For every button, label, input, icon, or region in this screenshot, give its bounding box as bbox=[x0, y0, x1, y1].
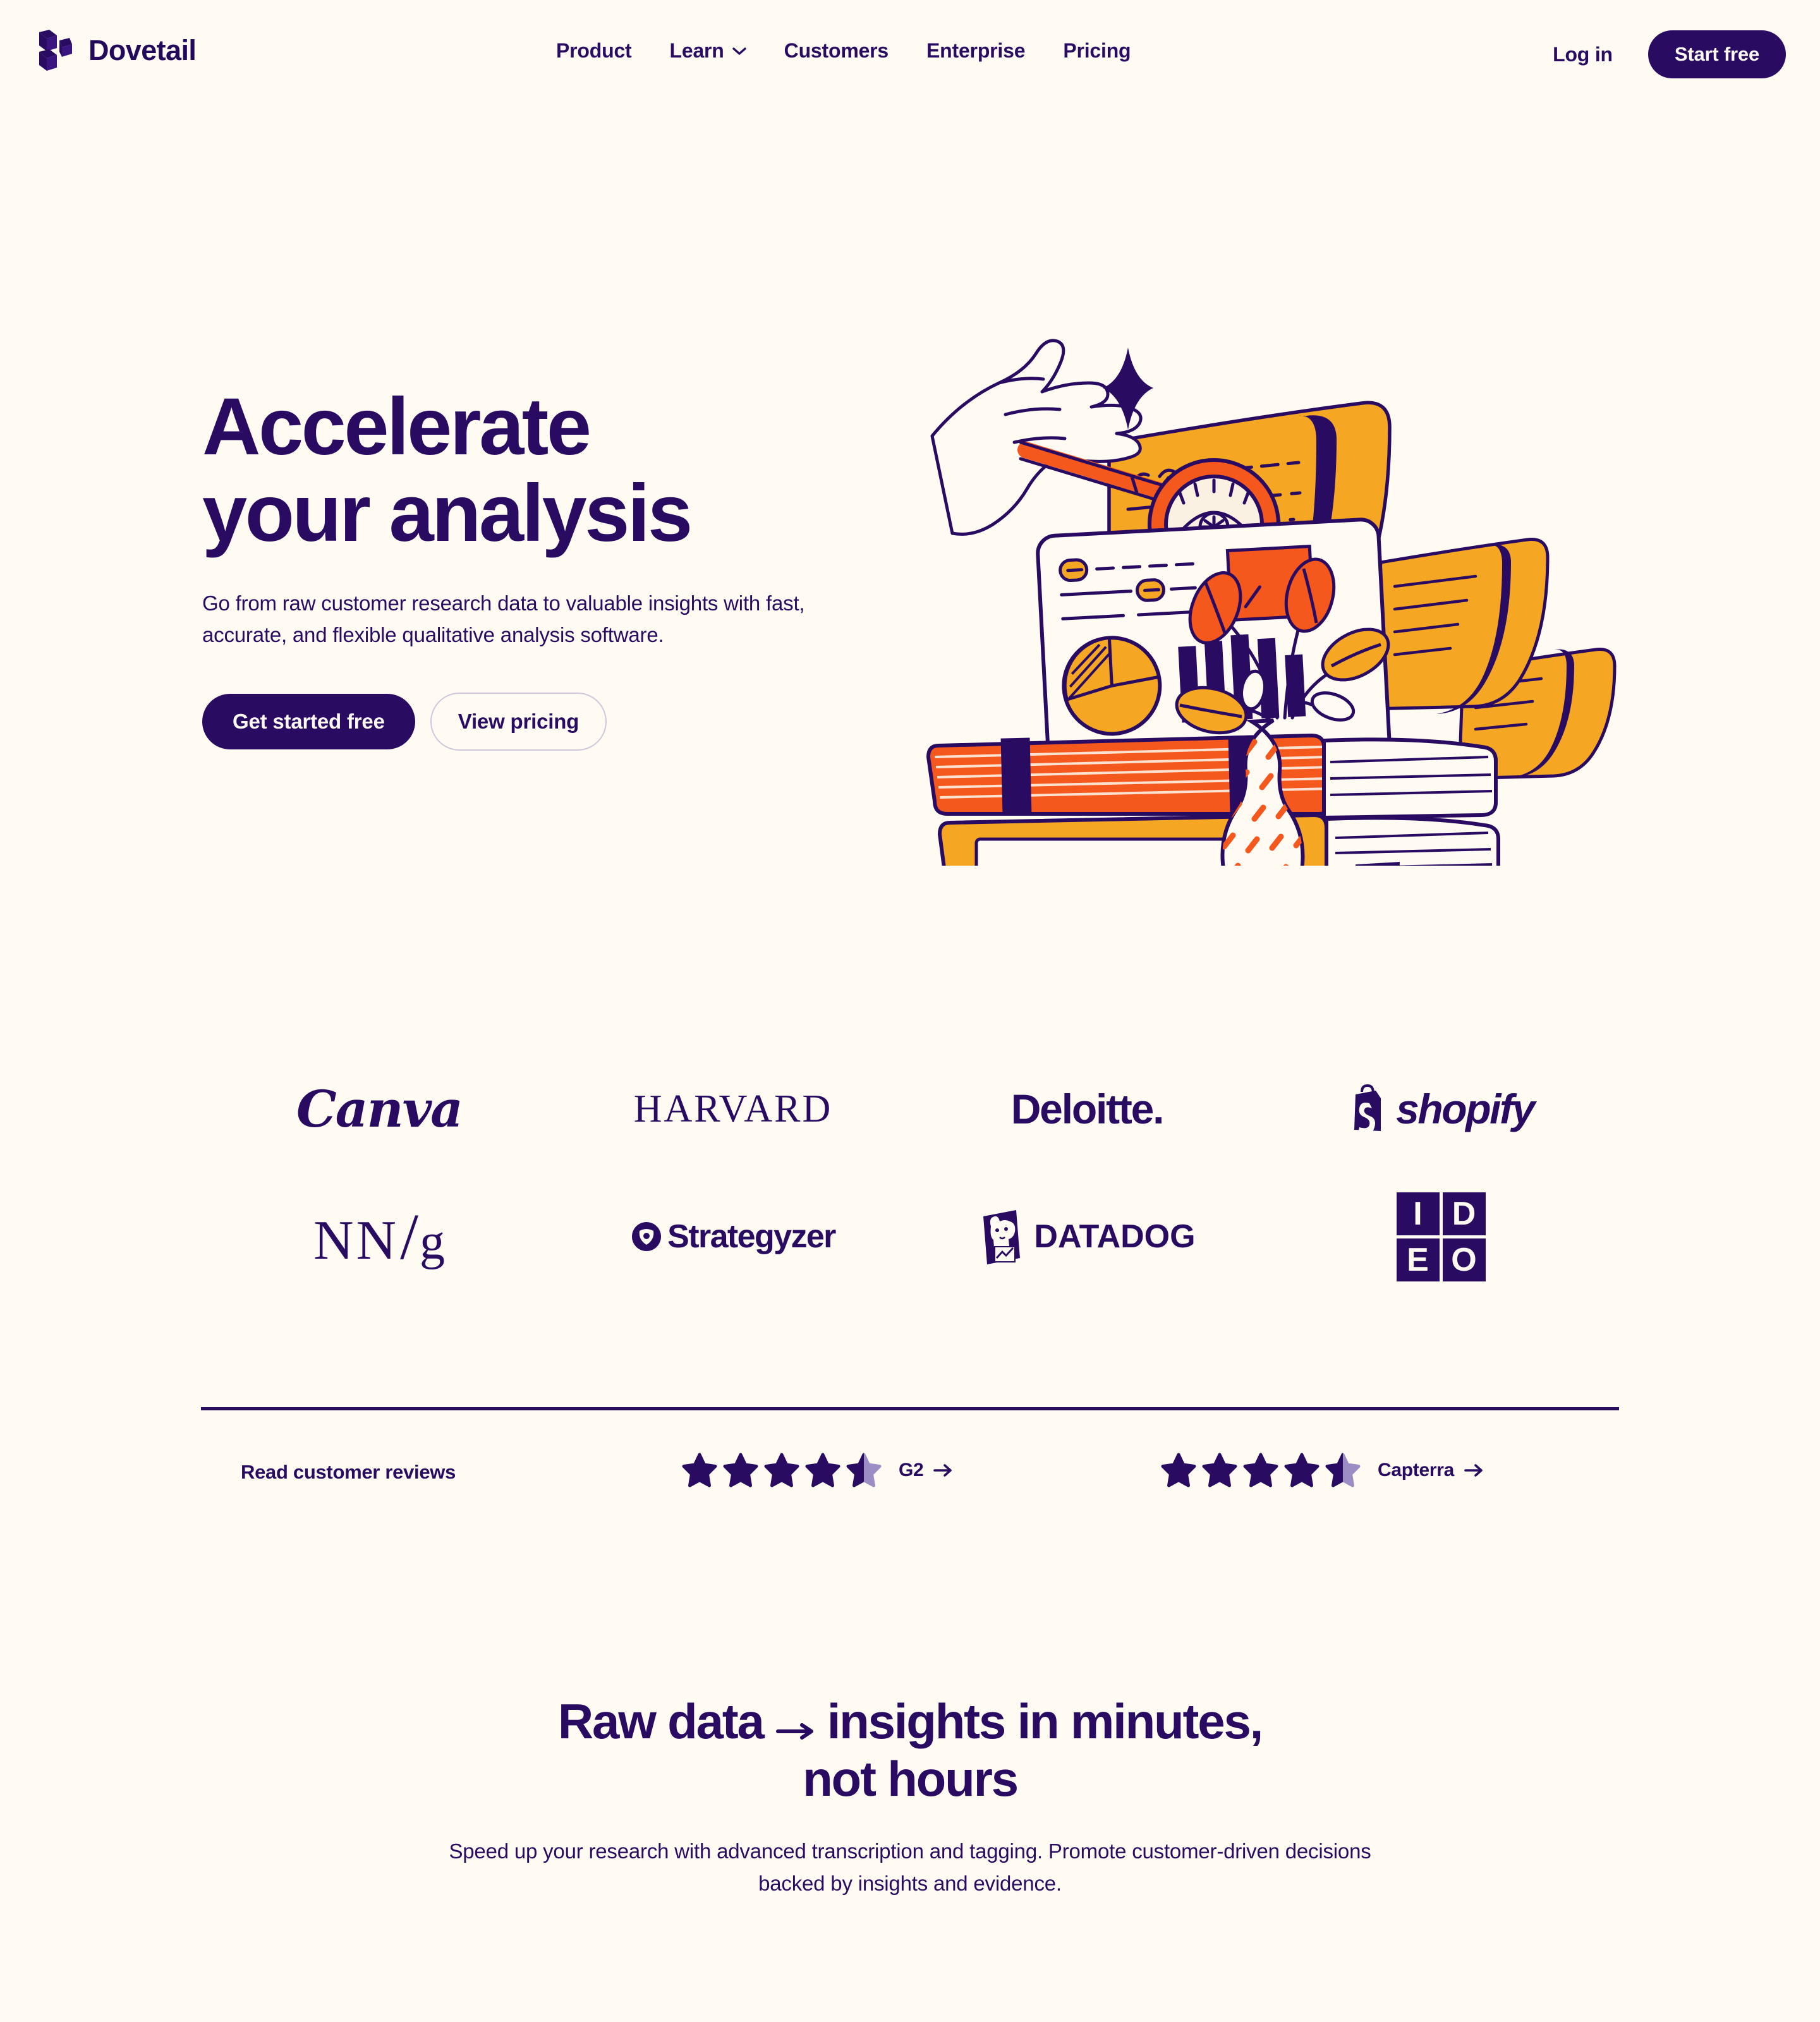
rating-source-capterra[interactable]: Capterra bbox=[1378, 1460, 1483, 1481]
strategyzer-logo-icon: Strategyzer bbox=[631, 1196, 835, 1278]
section-heading-line-2: not hours bbox=[803, 1751, 1017, 1807]
canva-logo-icon: Canva bbox=[296, 1068, 462, 1150]
shopify-logo-icon: shopify bbox=[1348, 1068, 1534, 1150]
arrow-right-icon bbox=[933, 1463, 952, 1477]
star-full-icon bbox=[1283, 1452, 1320, 1489]
star-half-icon bbox=[846, 1452, 882, 1489]
ideo-letter: E bbox=[1397, 1238, 1440, 1281]
ideo-letter: O bbox=[1443, 1238, 1486, 1281]
harvard-logo-icon: HARVARD bbox=[634, 1068, 833, 1150]
star-half-icon bbox=[1325, 1452, 1361, 1489]
rating-capterra[interactable]: Capterra bbox=[1160, 1452, 1483, 1489]
customer-reviews-bar: Read customer reviews G2 bbox=[201, 1441, 1619, 1523]
ideo-logo-icon: I D E O bbox=[1397, 1196, 1486, 1278]
hero-cta-group: Get started free View pricing bbox=[202, 693, 910, 751]
star-full-icon bbox=[1242, 1452, 1279, 1489]
section-paragraph: Speed up your research with advanced tra… bbox=[442, 1835, 1378, 1899]
research-analysis-illustration bbox=[919, 284, 1627, 866]
page-title: Accelerate your analysis bbox=[202, 384, 910, 557]
rating-source-label: Capterra bbox=[1378, 1460, 1454, 1481]
ideo-letter: D bbox=[1443, 1192, 1486, 1235]
nngroup-logo-icon: NN / g bbox=[313, 1196, 445, 1278]
hero-heading-line-2: your analysis bbox=[202, 468, 691, 559]
arrow-right-icon bbox=[775, 1695, 815, 1751]
section-heading-part-2: insights in minutes, bbox=[827, 1693, 1262, 1749]
star-full-icon bbox=[1160, 1452, 1197, 1489]
datadog-logo-icon: DATADOG bbox=[978, 1196, 1195, 1278]
star-full-icon bbox=[1201, 1452, 1238, 1489]
get-started-free-button[interactable]: Get started free bbox=[202, 694, 415, 749]
value-prop-section: Raw data insights in minutes, not hours … bbox=[0, 1693, 1820, 1899]
star-full-icon bbox=[763, 1452, 800, 1489]
deloitte-logo-icon: Deloitte. bbox=[1011, 1068, 1163, 1150]
reviews-label: Read customer reviews bbox=[241, 1461, 456, 1484]
datadog-dog-icon bbox=[978, 1208, 1024, 1266]
star-full-icon bbox=[804, 1452, 841, 1489]
rating-source-label: G2 bbox=[899, 1460, 923, 1481]
star-rating-capterra bbox=[1160, 1452, 1361, 1489]
strategyzer-mark-icon bbox=[631, 1221, 662, 1252]
rating-source-g2[interactable]: G2 bbox=[899, 1460, 952, 1481]
arrow-right-icon bbox=[1464, 1463, 1483, 1477]
hero-section: Accelerate your analysis Go from raw cus… bbox=[0, 0, 1820, 916]
hero-heading-line-1: Accelerate bbox=[202, 382, 590, 472]
star-full-icon bbox=[681, 1452, 718, 1489]
customer-logo-grid: Canva HARVARD Deloitte. shopify NN / g bbox=[202, 1068, 1618, 1278]
hero-subheading: Go from raw customer research data to va… bbox=[202, 588, 872, 651]
section-heading: Raw data insights in minutes, not hours bbox=[0, 1693, 1820, 1807]
ideo-letter: I bbox=[1397, 1192, 1440, 1235]
star-full-icon bbox=[722, 1452, 759, 1489]
hero-copy: Accelerate your analysis Go from raw cus… bbox=[202, 384, 910, 751]
section-divider bbox=[201, 1407, 1619, 1410]
shopify-bag-icon bbox=[1348, 1084, 1387, 1134]
star-rating-g2 bbox=[681, 1452, 882, 1489]
section-heading-part-1: Raw data bbox=[558, 1693, 763, 1749]
view-pricing-button[interactable]: View pricing bbox=[430, 693, 607, 751]
rating-g2[interactable]: G2 bbox=[681, 1452, 952, 1489]
